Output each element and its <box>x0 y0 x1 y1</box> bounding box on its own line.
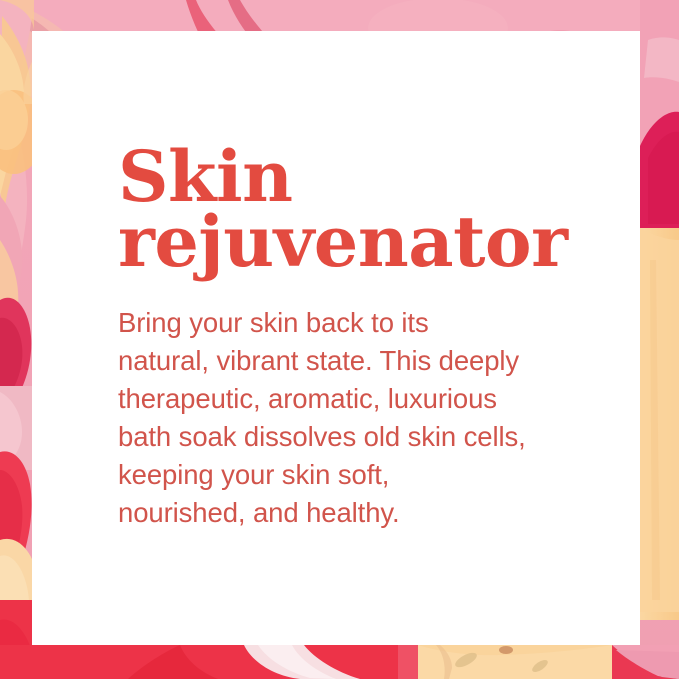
text-card: Skin rejuvenator Bring your skin back to… <box>32 31 640 645</box>
product-description: Bring your skin back to its natural, vib… <box>118 274 594 532</box>
card-content: Skin rejuvenator Bring your skin back to… <box>118 144 594 532</box>
page-title: Skin rejuvenator <box>118 144 594 274</box>
product-banner: Skin rejuvenator Bring your skin back to… <box>0 0 679 679</box>
